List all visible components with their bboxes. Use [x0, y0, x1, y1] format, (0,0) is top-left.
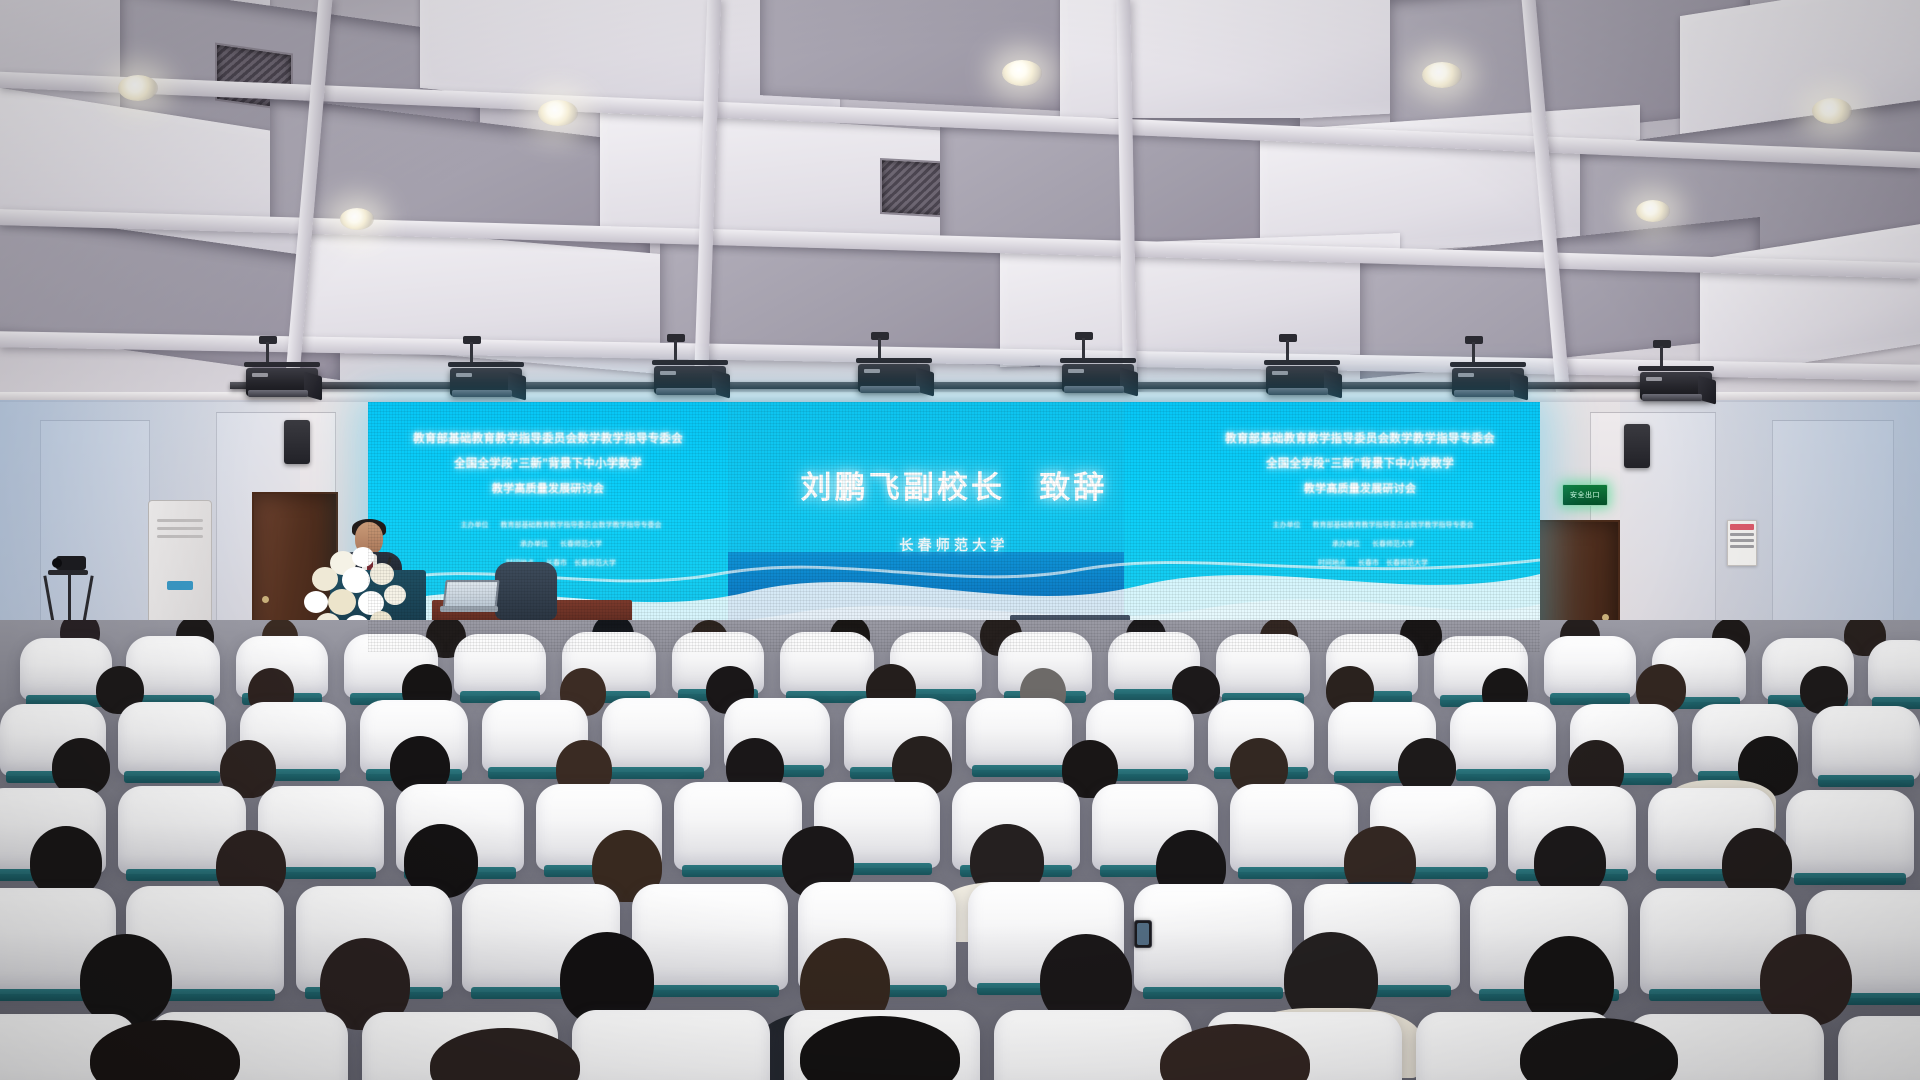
audience-chair	[454, 634, 546, 696]
audience-chair	[1450, 702, 1556, 774]
stage-light-fixture	[654, 356, 726, 402]
side-panel-line1: 教育部基础教育教学指导委员会数学教学指导专委会	[1180, 430, 1540, 446]
wall-speaker	[284, 420, 310, 464]
audience-chair	[966, 698, 1072, 770]
audience-chair	[1216, 634, 1310, 698]
laptop	[440, 580, 498, 614]
stage-light-fixture	[1266, 356, 1338, 402]
audience-seating	[0, 620, 1920, 1080]
ceiling-downlight	[1422, 62, 1462, 88]
ceiling-downlight	[340, 208, 374, 230]
audience-chair	[1812, 706, 1920, 780]
ceiling-downlight	[538, 100, 578, 126]
audience-chair	[1134, 884, 1292, 992]
ceiling-downlight	[1812, 98, 1852, 124]
audience-chair	[1544, 636, 1636, 698]
stage-light-fixture	[1062, 354, 1134, 400]
stage-chair	[495, 562, 557, 620]
audience-chair	[632, 884, 788, 990]
audience-chair	[1230, 784, 1358, 872]
wall-speaker	[1624, 424, 1650, 468]
ceiling-downlight	[1636, 200, 1670, 222]
exit-sign-label: 安全出口	[1570, 490, 1600, 500]
stage-light-fixture	[246, 358, 318, 404]
led-side-panel-right: 教育部基础教育教学指导委员会数学教学指导专委会 全国全学段“三新”背景下中小学数…	[1180, 402, 1540, 652]
side-panel-line1: 教育部基础教育教学指导委员会数学教学指导专委会	[368, 430, 728, 446]
stage-light-fixture	[450, 358, 522, 404]
coffered-ceiling	[0, 0, 1920, 420]
side-panel-meta-row: 主办单位 教育部基础教育教学指导委员会数学教学指导专委会	[1247, 520, 1474, 530]
stage-light-fixture	[1452, 358, 1524, 404]
audience-chair	[1868, 640, 1920, 702]
audience-chair	[572, 1010, 770, 1080]
audience-chair	[780, 632, 874, 696]
audience-chair	[602, 698, 710, 772]
conference-hall-photo: 安全出口	[0, 0, 1920, 1080]
audience-chair	[118, 702, 226, 776]
led-subtitle: 长春师范大学	[368, 535, 1540, 555]
side-panel-meta-row: 时间地点 长春市 长春师范大学	[1292, 558, 1428, 568]
audience-chair	[1838, 1016, 1920, 1080]
led-main-title: 刘鹏飞副校长 致辞	[368, 462, 1540, 507]
ceiling-downlight	[1002, 60, 1042, 86]
stage-light-fixture	[858, 354, 930, 400]
smartphone[interactable]	[1134, 920, 1152, 948]
audience-chair	[1786, 790, 1914, 878]
exit-sign: 安全出口	[1562, 484, 1608, 506]
ceiling-downlight	[118, 75, 158, 101]
side-panel-meta-row: 主办单位 教育部基础教育教学指导委员会数学教学指导专委会	[435, 520, 662, 530]
wall-notice-board	[1727, 520, 1757, 566]
stage-light-fixture	[1640, 362, 1712, 408]
